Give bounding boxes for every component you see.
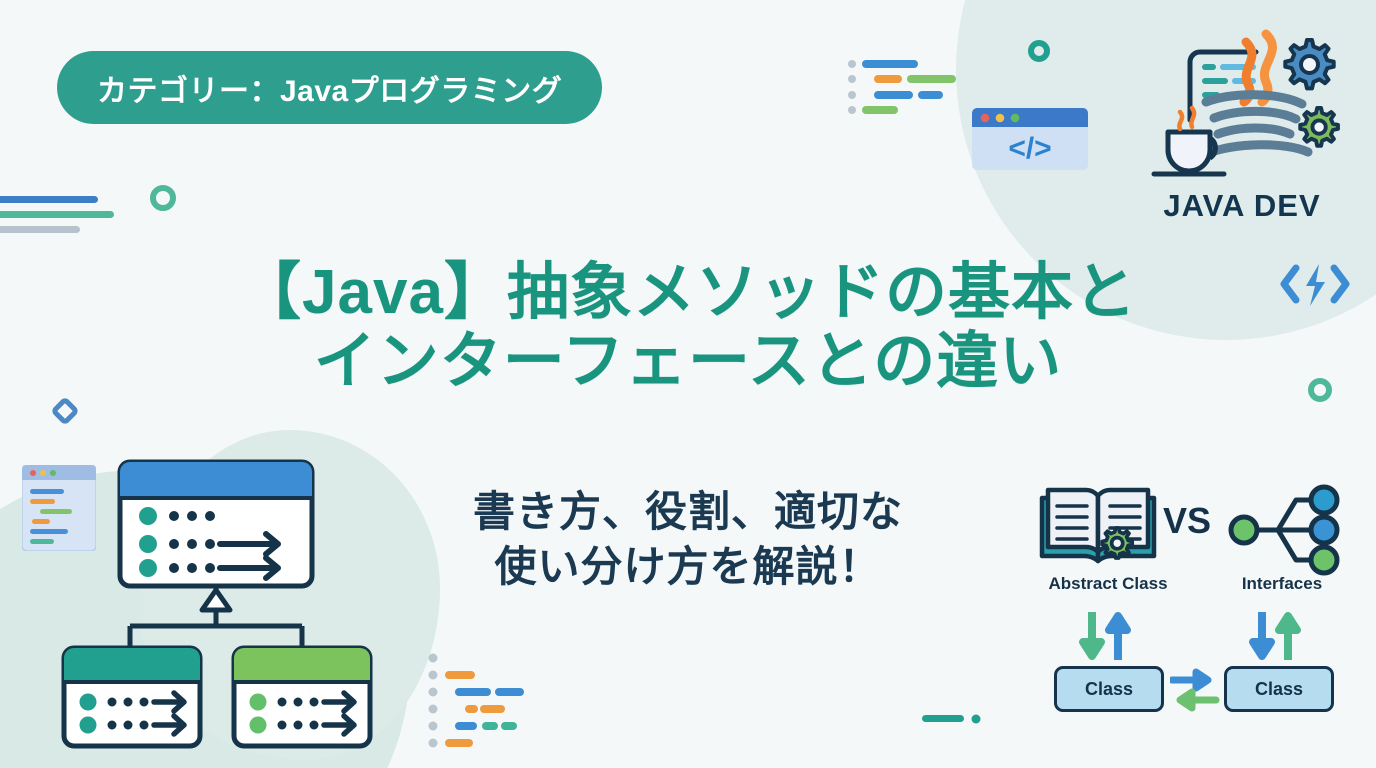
page-title: 【Java】抽象メソッドの基本と インターフェースとの違い [0, 258, 1376, 397]
deco-ring-right [1308, 378, 1332, 402]
java-dev-logo-label: JAVA DEV [1132, 188, 1352, 224]
deco-dash-dot [922, 712, 982, 724]
class-box-left: Class [1054, 666, 1164, 712]
svg-text:</>: </> [1008, 132, 1051, 165]
uml-child-class-left [64, 648, 200, 746]
node-tree-icon [1231, 487, 1337, 573]
open-book-gear-icon [1042, 490, 1154, 561]
deco-code-lines-top [848, 58, 978, 124]
gear-icon [1300, 108, 1338, 146]
title-line-1: 【Java】抽象メソッドの基本と [0, 258, 1376, 327]
deco-ring-top [1028, 40, 1050, 62]
category-badge: カテゴリー：Javaプログラミング [57, 51, 602, 124]
interfaces-label: Interfaces [1212, 574, 1352, 594]
deco-line-gray [0, 226, 80, 233]
class-box-right: Class [1224, 666, 1334, 712]
exchange-arrows-icon [1170, 668, 1220, 712]
abstract-class-label: Abstract Class [1032, 574, 1184, 594]
arrows-up-down-right [1248, 612, 1312, 660]
class-box-right-label: Class [1255, 679, 1303, 700]
uml-parent-class [120, 462, 312, 586]
vs-label: VS [1163, 500, 1211, 542]
arrows-up-down-left [1078, 612, 1142, 660]
deco-line-green [0, 211, 114, 218]
deco-line-blue [0, 196, 98, 203]
title-line-2: インターフェースとの違い [0, 327, 1376, 396]
uml-class-diagram [22, 440, 412, 760]
uml-child-class-right [234, 648, 370, 746]
code-lightning-icon [1278, 262, 1352, 306]
gear-icon [1102, 528, 1132, 558]
banner-canvas: カテゴリー：Javaプログラミング [0, 0, 1376, 768]
class-box-left-label: Class [1085, 679, 1133, 700]
deco-code-lines-bottom [428, 652, 563, 756]
browser-window-code-icon: </> [972, 108, 1088, 170]
category-label: カテゴリー：Javaプログラミング [97, 66, 562, 110]
deco-ring-left [150, 185, 176, 211]
diamond-outline-icon [50, 396, 80, 426]
gear-icon [1285, 40, 1333, 88]
